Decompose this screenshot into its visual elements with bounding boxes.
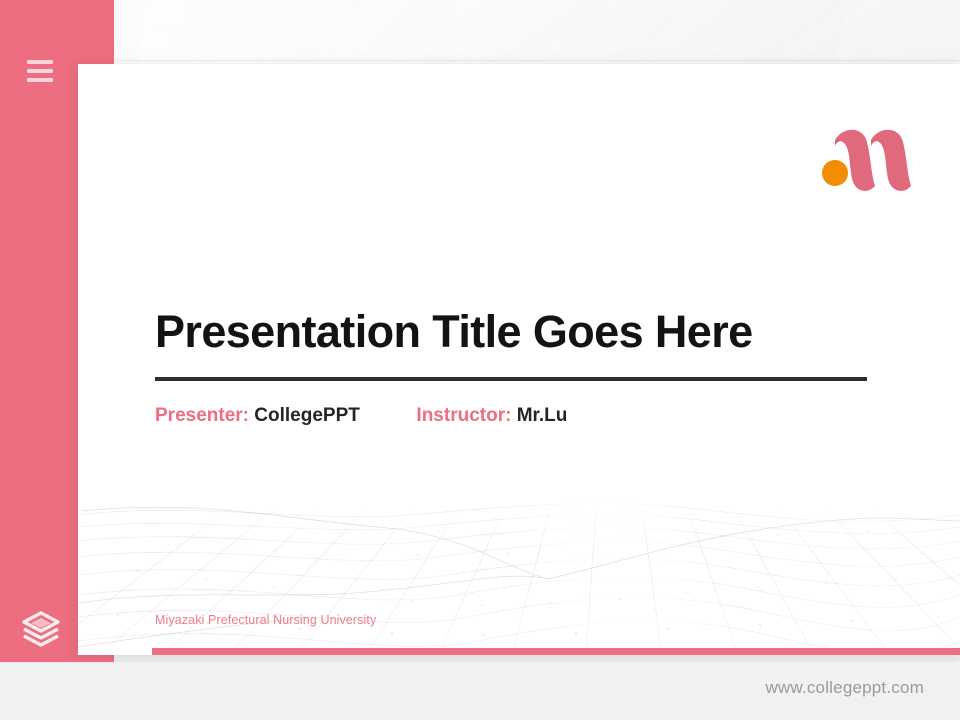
- logo-dot: [822, 160, 848, 186]
- footer-website-url: www.collegeppt.com: [765, 678, 924, 698]
- university-m-logo: [813, 116, 933, 200]
- hamburger-bar: [27, 69, 53, 73]
- presenter-instructor-line: Presenter: CollegePPT Instructor: Mr.Lu: [155, 405, 567, 427]
- presentation-slide[interactable]: Presentation Title Goes Here Presenter: …: [78, 64, 960, 655]
- instructor-label: Instructor:: [416, 405, 511, 426]
- layers-stack-icon[interactable]: [18, 605, 64, 651]
- wireframe-mesh-graphic: [78, 475, 960, 655]
- title-divider: [155, 377, 867, 381]
- slide-preview-screen: Presentation Title Goes Here Presenter: …: [0, 0, 960, 720]
- organization-name: Miyazaki Prefectural Nursing University: [155, 613, 376, 627]
- presenter-label: Presenter:: [155, 405, 249, 426]
- page-title: Presentation Title Goes Here: [155, 306, 875, 358]
- slide-accent-bar: [152, 648, 960, 655]
- hamburger-bar: [27, 78, 53, 82]
- presenter-name: CollegePPT: [254, 405, 360, 426]
- page-footer: www.collegeppt.com: [0, 662, 960, 720]
- instructor-name: Mr.Lu: [517, 405, 568, 426]
- hamburger-menu-icon[interactable]: [27, 60, 53, 82]
- backdrop-divider: [0, 60, 960, 61]
- hamburger-bar: [27, 60, 53, 64]
